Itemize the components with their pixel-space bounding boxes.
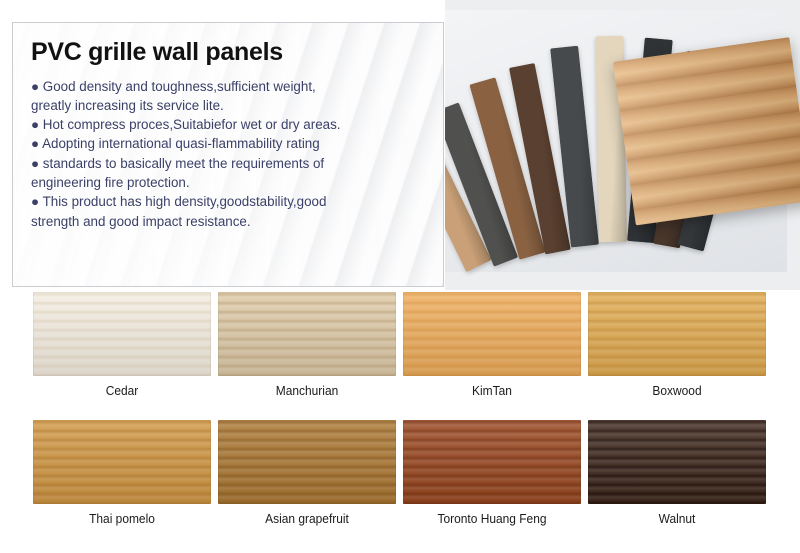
feature-bullet: ● Hot compress proces,Suitabiefor wet or… [31, 115, 429, 134]
swatch-label: Toronto Huang Feng [410, 511, 574, 526]
swatch-cell-cedar[interactable]: Cedar [33, 292, 211, 398]
grille-panel-sample [613, 37, 800, 225]
swatch-chip[interactable] [588, 292, 766, 376]
swatch-cell-kimtan[interactable]: KimTan [403, 292, 581, 398]
feature-bullet: ● Good density and toughness,sufficient … [31, 77, 429, 116]
swatch-chip[interactable] [588, 420, 766, 504]
swatch-cell-thai-pomelo[interactable]: Thai pomelo [33, 420, 211, 526]
swatch-chip[interactable] [403, 420, 581, 504]
swatch-row: Thai pomeloAsian grapefruitToronto Huang… [0, 420, 800, 548]
product-infographic: PVC grille wall panels ● Good density an… [0, 0, 800, 553]
swatch-label: Walnut [595, 511, 759, 526]
swatch-chip[interactable] [403, 292, 581, 376]
description-card: PVC grille wall panels ● Good density an… [12, 22, 444, 287]
swatch-cell-toronto-huang-feng[interactable]: Toronto Huang Feng [403, 420, 581, 526]
swatch-chip[interactable] [218, 420, 396, 504]
feature-bullet-list: ● Good density and toughness,sufficient … [31, 77, 429, 231]
feature-bullet: ● standards to basically meet the requir… [31, 154, 429, 193]
swatch-label: Cedar [40, 383, 204, 398]
swatch-chip[interactable] [33, 292, 211, 376]
product-photo [445, 0, 800, 290]
color-swatch-grid: CedarManchurianKimTanBoxwoodThai pomeloA… [0, 292, 800, 553]
hero-band: PVC grille wall panels ● Good density an… [0, 0, 800, 290]
swatch-cell-asian-grapefruit[interactable]: Asian grapefruit [218, 420, 396, 526]
swatch-cell-walnut[interactable]: Walnut [588, 420, 766, 526]
swatch-label: Boxwood [595, 383, 759, 398]
feature-bullet: ● Adopting international quasi-flammabil… [31, 134, 429, 153]
swatch-label: Asian grapefruit [225, 511, 389, 526]
swatch-cell-manchurian[interactable]: Manchurian [218, 292, 396, 398]
swatch-chip[interactable] [33, 420, 211, 504]
swatch-cell-boxwood[interactable]: Boxwood [588, 292, 766, 398]
swatch-label: Manchurian [225, 383, 389, 398]
swatch-label: Thai pomelo [40, 511, 204, 526]
swatch-row: CedarManchurianKimTanBoxwood [0, 292, 800, 420]
swatch-chip[interactable] [218, 292, 396, 376]
feature-bullet: ● This product has high density,goodstab… [31, 192, 429, 231]
swatch-label: KimTan [410, 383, 574, 398]
page-title: PVC grille wall panels [31, 39, 429, 67]
